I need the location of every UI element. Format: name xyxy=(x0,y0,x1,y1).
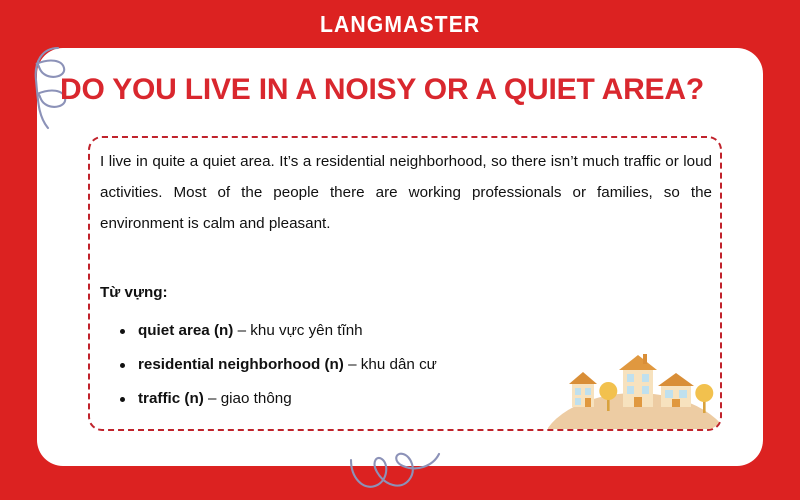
answer-box: I live in quite a quiet area. It’s a res… xyxy=(88,136,722,431)
brand-logo-text: LANGMASTER xyxy=(320,13,480,36)
vocabulary-dash: – xyxy=(348,356,356,373)
brand-logo: LANGMASTER xyxy=(0,13,800,37)
vocabulary-term: quiet area (n) xyxy=(138,322,233,339)
list-item: quiet area (n) – khu vực yên tĩnh xyxy=(116,314,676,348)
vocabulary-term: traffic (n) xyxy=(138,390,204,407)
list-item: traffic (n) – giao thông xyxy=(116,382,676,416)
list-item: residential neighborhood (n) – khu dân c… xyxy=(116,348,676,382)
vocabulary-list: quiet area (n) – khu vực yên tĩnh reside… xyxy=(116,314,676,416)
tree-right xyxy=(695,384,713,413)
vocabulary-definition: khu vực yên tĩnh xyxy=(250,322,362,339)
vocabulary-term: residential neighborhood (n) xyxy=(138,356,344,373)
vocabulary-definition: giao thông xyxy=(221,390,292,407)
answer-paragraph-wrapper: I live in quite a quiet area. It’s a res… xyxy=(90,138,722,239)
vocabulary-dash: – xyxy=(238,322,246,339)
page-title: DO YOU LIVE IN A NOISY OR A QUIET AREA? xyxy=(60,70,750,110)
vocabulary-definition: khu dân cư xyxy=(361,356,437,373)
answer-paragraph: I live in quite a quiet area. It’s a res… xyxy=(100,146,712,239)
vocabulary-heading: Từ vựng: xyxy=(100,282,168,304)
vocabulary-dash: – xyxy=(208,390,216,407)
